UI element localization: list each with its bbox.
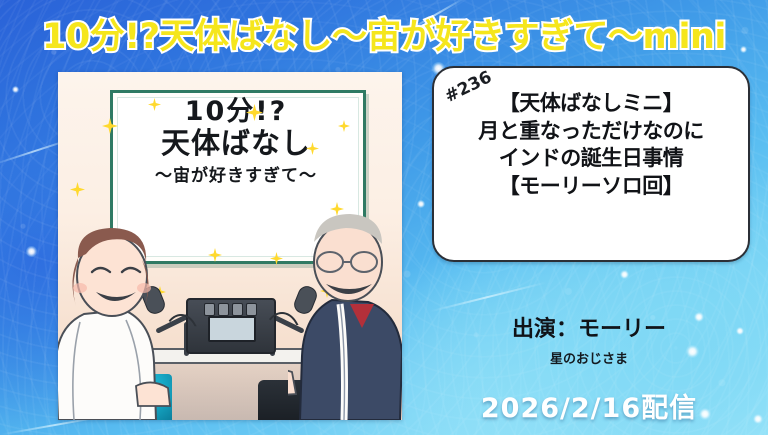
host-right-illustration: [288, 200, 402, 420]
page-title: 10分!?天体ばなし～宙が好きすぎて～mini: [0, 8, 768, 59]
episode-title-line-4: 【モーリーソロ回】: [442, 173, 740, 201]
cast-subtitle: 星のおじさま: [432, 348, 746, 367]
audio-mixer: [186, 298, 276, 354]
mixer-display: [208, 316, 256, 342]
episode-title-bubble[interactable]: #236 【天体ばなしミニ】 月と重なっただけなのに インドの誕生日事情 【モー…: [432, 66, 750, 262]
mixer-knob: [246, 303, 257, 316]
whiteboard-title-block: 10分!? 天体ばなし ～宙が好きすぎて～: [116, 98, 356, 187]
episode-thumbnail: 10分!?天体ばなし～宙が好きすぎて～mini 10分!? 天体ばなし ～宙が好…: [0, 0, 768, 435]
episode-title-line-2: 月と重なっただけなのに: [442, 118, 740, 146]
airdate-label: 2026/2/16配信: [432, 386, 746, 425]
mixer-knob: [218, 303, 229, 316]
whiteboard-line-2: 天体ばなし: [116, 128, 356, 160]
episode-title-line-1: 【天体ばなしミニ】: [442, 90, 740, 118]
mixer-knob: [232, 303, 243, 316]
whiteboard-line-3: ～宙が好きすぎて～: [116, 166, 356, 186]
mixer-knob: [204, 303, 215, 316]
whiteboard-line-1: 10分!?: [116, 98, 356, 126]
cast-label: 出演：モーリー: [432, 311, 746, 343]
album-art[interactable]: 10分!? 天体ばなし ～宙が好きすぎて～: [58, 72, 402, 420]
episode-title-lines: 【天体ばなしミニ】 月と重なっただけなのに インドの誕生日事情 【モーリーソロ回…: [442, 90, 740, 201]
host-left-illustration: [58, 210, 172, 420]
episode-title-line-3: インドの誕生日事情: [442, 145, 740, 173]
